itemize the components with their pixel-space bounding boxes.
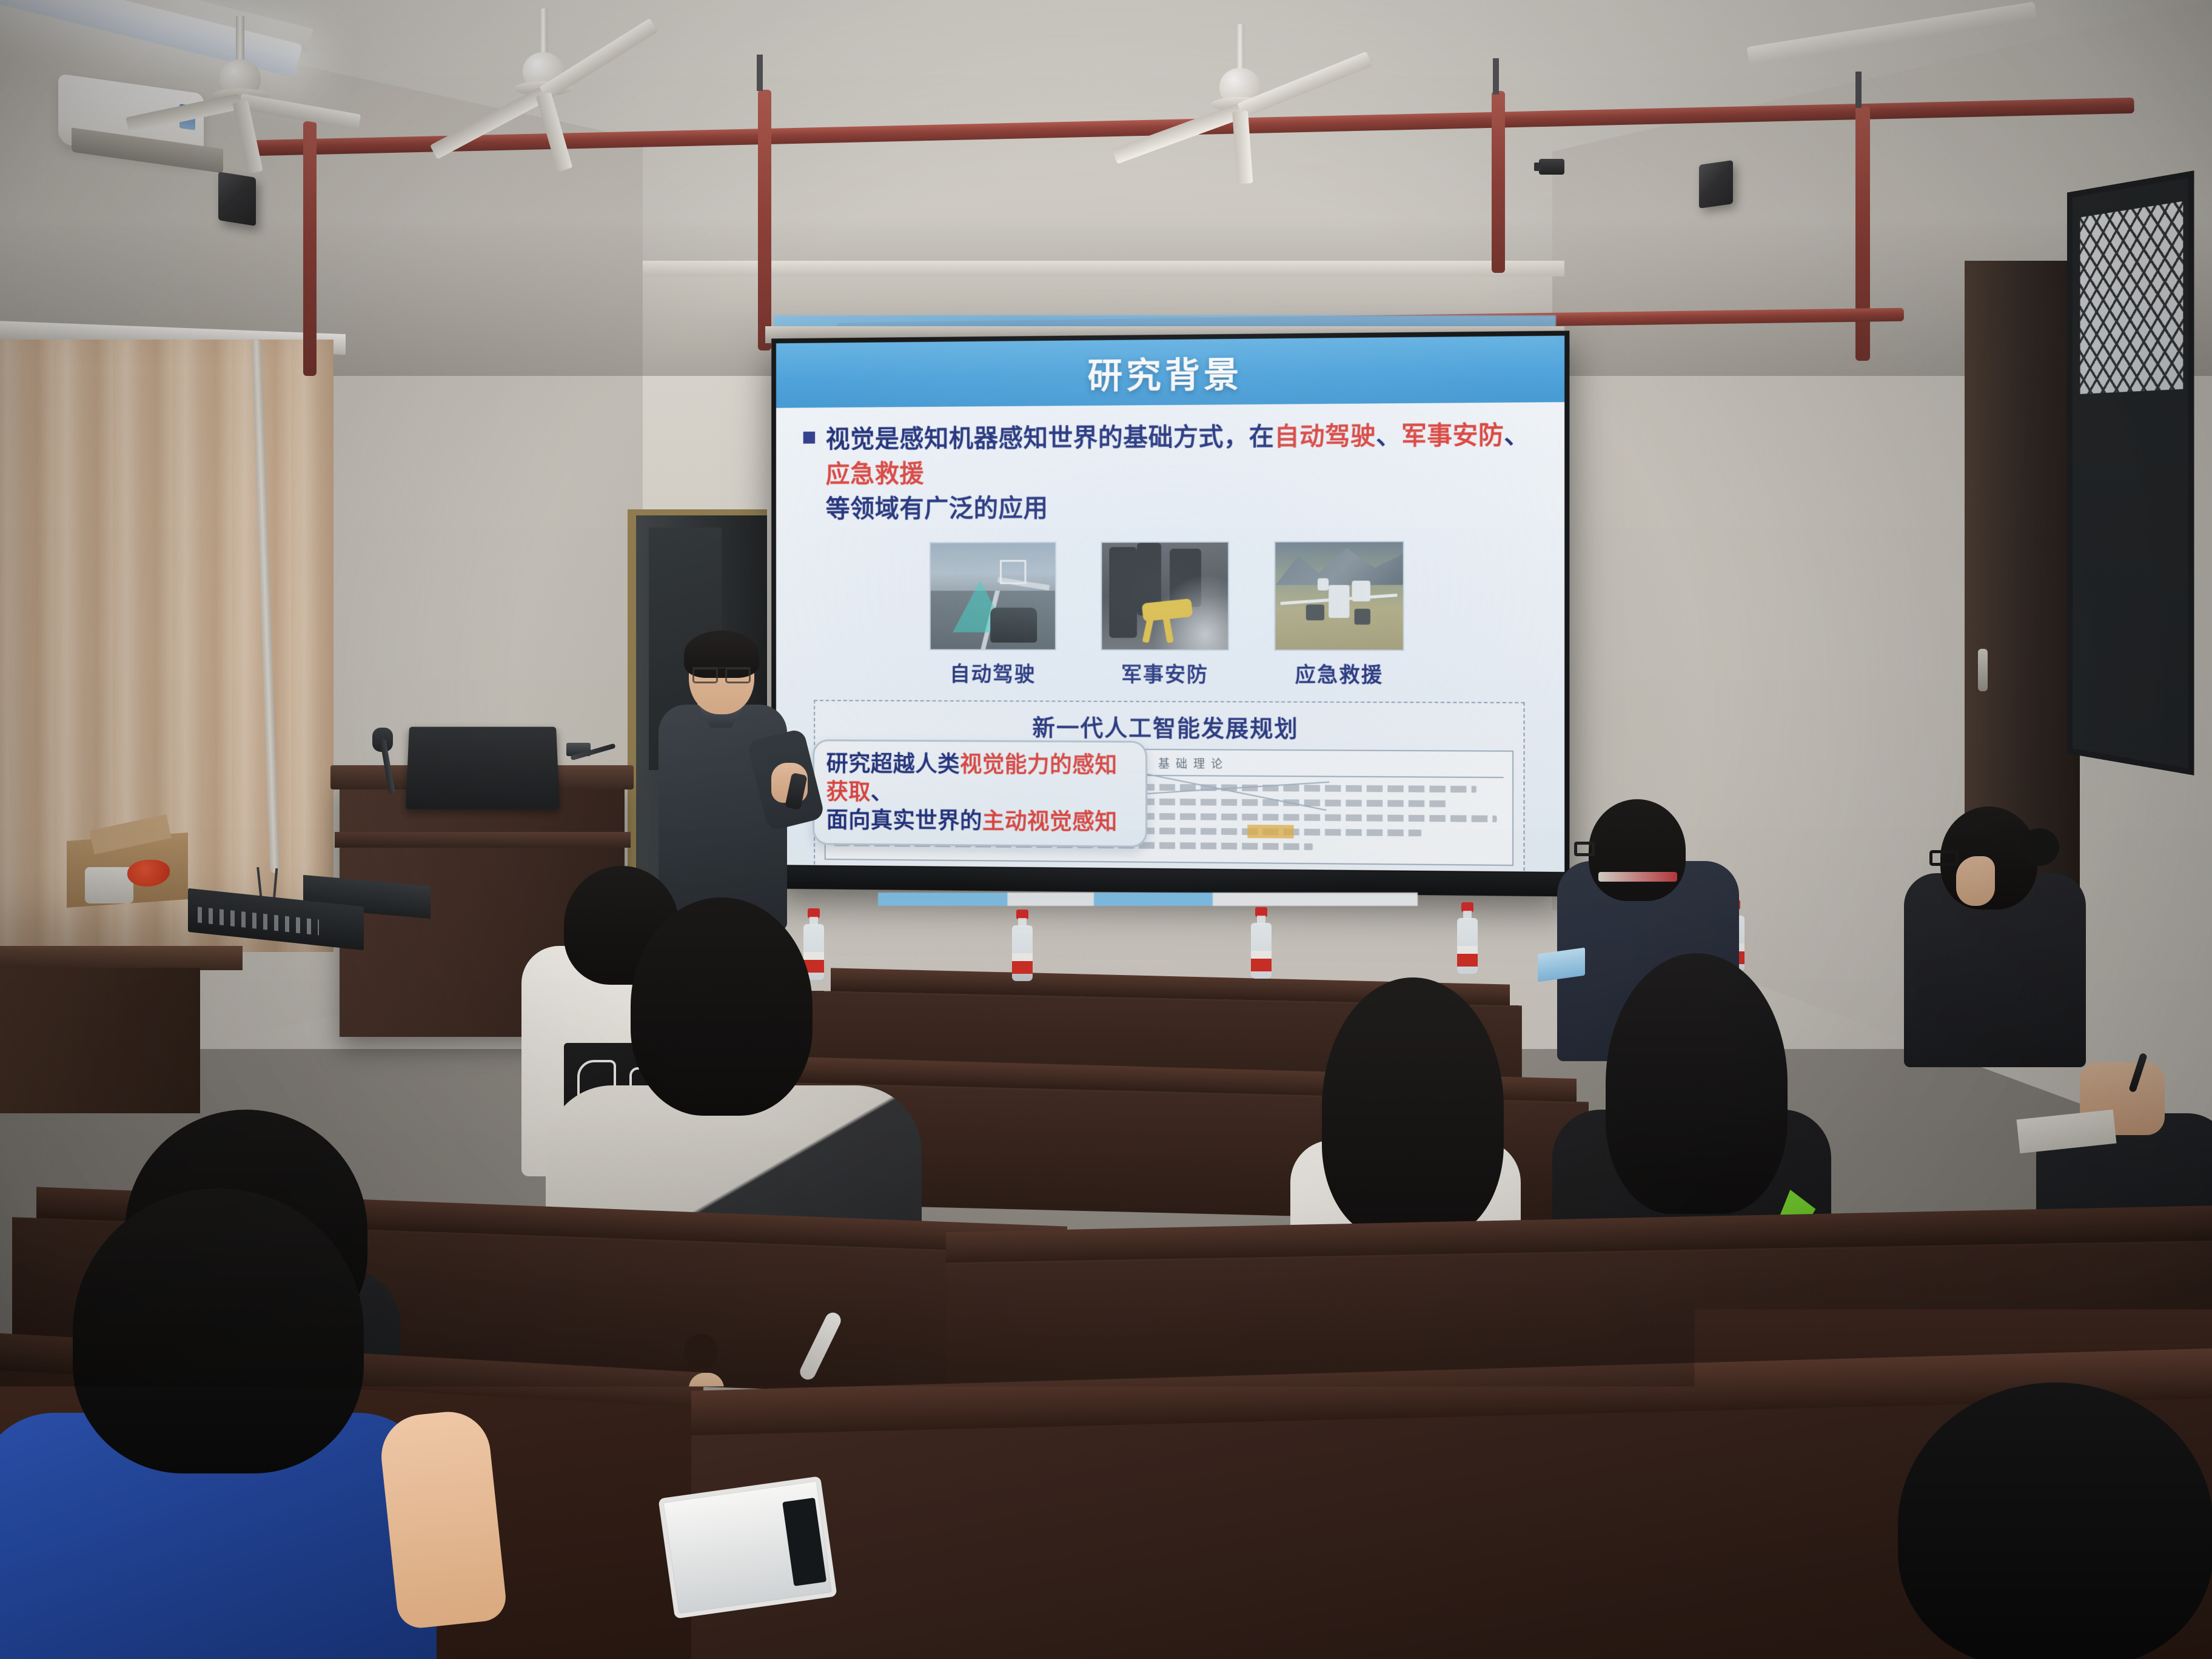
callout-text-e: 主动视觉感知 (982, 809, 1118, 834)
eyeglasses-icon (1929, 850, 1959, 866)
thumbnail-autonomous-driving (930, 541, 1056, 650)
ceiling-fan-icon (149, 16, 331, 113)
plan-box-title: 新一代人工智能发展规划 (825, 708, 1513, 745)
pipe-hanger (1493, 58, 1499, 95)
thumbnail-item: 军事安防 (1101, 541, 1229, 688)
callout-text-a: 研究超越人类 (826, 751, 960, 777)
callout-line-1: 研究超越人类视觉能力的感知获取、 (826, 749, 1133, 808)
white-bag (85, 867, 133, 903)
bullet-sep-2: 、 (1504, 421, 1529, 449)
ceiling-fan-icon (1140, 24, 1340, 127)
fan-rod (539, 8, 548, 57)
forearm (377, 1408, 508, 1631)
sprinkler-pipe-drop-3 (1492, 91, 1505, 273)
security-camera-icon (1539, 159, 1564, 175)
bullet-highlight-2: 军事安防 (1401, 421, 1504, 450)
plan-box: 新一代人工智能发展规划 专栏1 基础理论 (814, 700, 1524, 872)
window (2067, 170, 2194, 776)
water-bottle[interactable] (1455, 902, 1480, 974)
lectern-ledge (335, 832, 631, 848)
water-bottle[interactable] (1249, 907, 1273, 979)
collar-stripe (1598, 872, 1677, 882)
camera-mount (1547, 173, 1550, 195)
screen-surface: 研究背景 视觉是感知机器感知世界的基础方式，在自动驾驶、军事安防、应急救援 等领… (776, 336, 1564, 872)
thumbnail-caption: 自动驾驶 (950, 657, 1036, 687)
callout-line-2: 面向真实世界的主动视觉感知 (826, 806, 1133, 837)
fan-rod (1236, 24, 1244, 73)
bullet-highlight-3: 应急救援 (826, 460, 924, 488)
slide-title-bar: 研究背景 (776, 336, 1564, 408)
tablet-device[interactable] (658, 1476, 837, 1619)
pipe-hanger (1855, 72, 1862, 108)
side-table (0, 946, 243, 970)
side-table-body (0, 968, 200, 1113)
sprinkler-pipe-drop-2 (758, 90, 771, 350)
bullet-prefix: 视觉是感知机器感知世界的基础方式，在 (826, 423, 1275, 453)
sprinkler-pipe-drop-4 (1855, 106, 1870, 361)
callout-text-c: 、 (871, 780, 893, 805)
fan-rod (236, 16, 244, 64)
ceiling-fan-icon (446, 8, 640, 112)
hair-bun (2019, 828, 2059, 866)
watch (684, 1334, 718, 1369)
thumbnail-caption: 应急救援 (1295, 658, 1384, 688)
wall-speaker-left (218, 172, 256, 226)
lectern-monitor[interactable] (406, 727, 560, 809)
thumbnail-item: 应急救援 (1274, 541, 1404, 688)
window-grille (2080, 201, 2184, 394)
bullet-line-2: 等领域有广泛的应用 (826, 494, 1048, 523)
wall-speaker-right (1699, 160, 1733, 209)
bullet-square-icon (803, 432, 815, 444)
hand (689, 1373, 724, 1408)
face (1956, 856, 1995, 906)
callout-bubble: 研究超越人类视觉能力的感知获取、 面向真实世界的主动视觉感知 (813, 739, 1147, 847)
projector-spill-bottom (878, 893, 1418, 906)
slide-title: 研究背景 (1088, 346, 1243, 398)
thumbnail-military-security (1101, 541, 1229, 650)
thumbnail-emergency-rescue (1274, 541, 1404, 651)
sprinkler-pipe-drop-1 (303, 121, 317, 376)
bullet-text: 视觉是感知机器感知世界的基础方式，在自动驾驶、军事安防、应急救援 等领域有广泛的… (826, 417, 1536, 527)
thumbnail-caption: 军事安防 (1121, 658, 1208, 688)
doc-highlight (1247, 825, 1293, 839)
slide-thumbnails: 自动驾驶 军事安防 (803, 540, 1536, 688)
slide-bullet: 视觉是感知机器感知世界的基础方式，在自动驾驶、军事安防、应急救援 等领域有广泛的… (803, 417, 1536, 527)
wall-soffit (643, 261, 1564, 276)
bullet-sep-1: 、 (1376, 421, 1401, 450)
window-glass (2080, 201, 2184, 394)
slide-body: 视觉是感知机器感知世界的基础方式，在自动驾驶、军事安防、应急救援 等领域有广泛的… (776, 402, 1564, 872)
water-bottle[interactable] (1010, 910, 1034, 981)
presentation-slide: 研究背景 视觉是感知机器感知世界的基础方式，在自动驾驶、军事安防、应急救援 等领… (776, 336, 1564, 872)
lecture-hall-photo: 研究背景 视觉是感知机器感知世界的基础方式，在自动驾驶、军事安防、应急救援 等领… (0, 0, 2212, 1659)
thumbnail-item: 自动驾驶 (930, 541, 1056, 687)
door-handle[interactable] (1978, 649, 1988, 691)
callout-text-d: 面向真实世界的 (826, 808, 982, 834)
projector-screen[interactable]: 研究背景 视觉是感知机器感知世界的基础方式，在自动驾驶、军事安防、应急救援 等领… (771, 330, 1569, 896)
pipe-hanger (757, 55, 763, 91)
eyeglasses-icon (692, 667, 751, 678)
eyeglasses-icon (1574, 842, 1595, 856)
bullet-highlight-1: 自动驾驶 (1274, 422, 1376, 451)
